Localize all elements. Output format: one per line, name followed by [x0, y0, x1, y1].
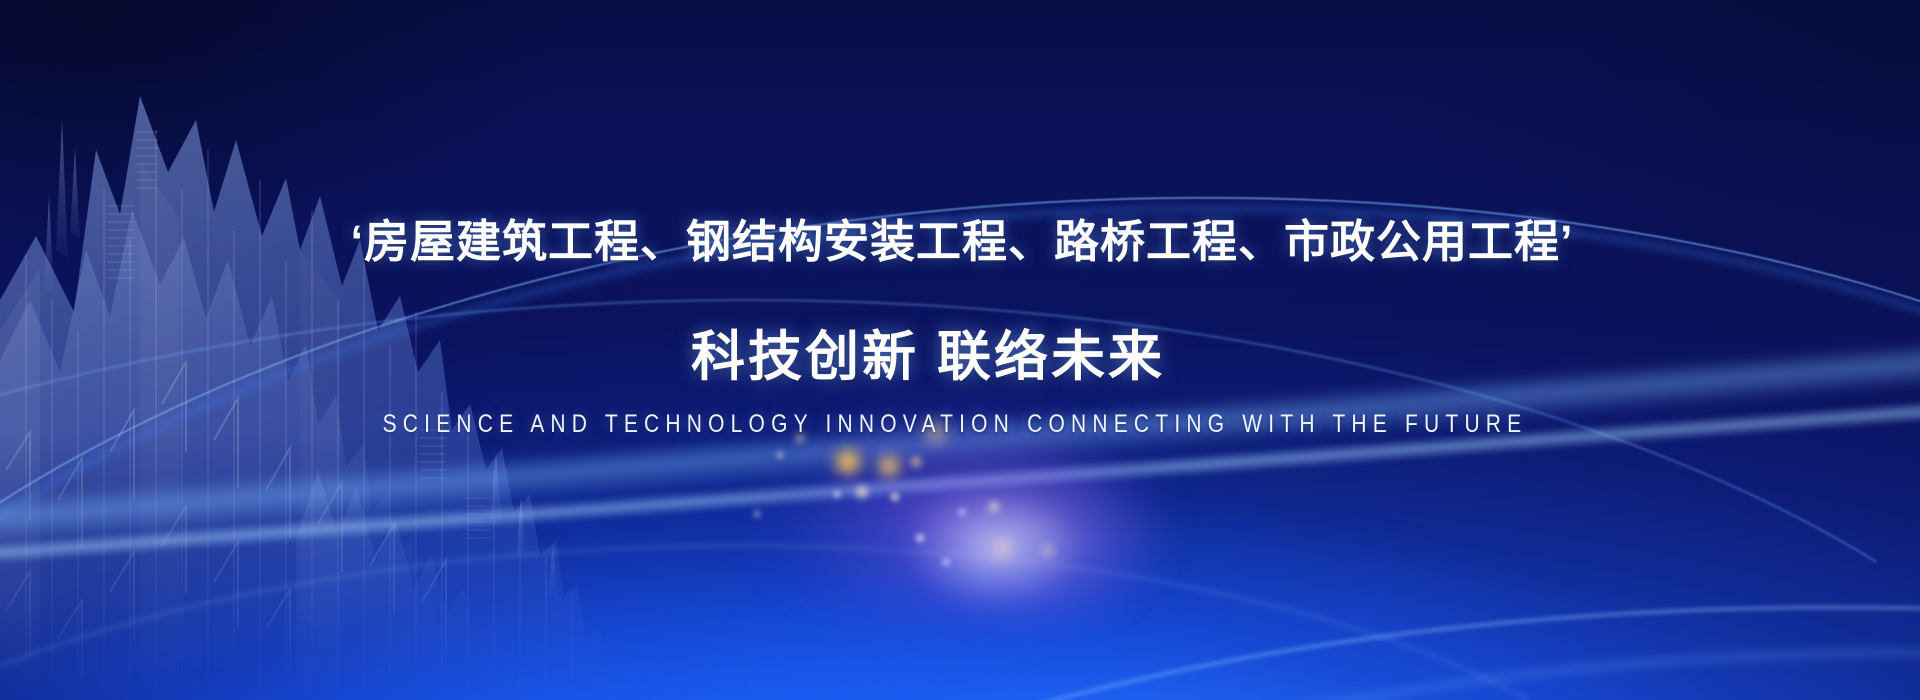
bokeh-dot — [833, 490, 841, 498]
bokeh-dot — [915, 533, 925, 543]
bokeh-dot — [942, 558, 950, 566]
bokeh-dot — [958, 508, 966, 516]
bokeh-dot — [795, 433, 805, 443]
bokeh-dot — [776, 451, 784, 459]
bokeh-dot — [876, 453, 902, 479]
bokeh-dot — [910, 456, 922, 468]
bokeh-dot — [890, 492, 900, 502]
bokeh-dot — [988, 501, 1000, 513]
bokeh-dot — [855, 485, 869, 499]
bokeh-dot — [925, 421, 947, 443]
banner-hero: ‘房屋建筑工程、钢结构安装工程、路桥工程、市政公用工程’ 科技创新 联络未来 S… — [0, 0, 1920, 700]
bokeh-dot — [1042, 545, 1054, 557]
bokeh-dot — [753, 510, 761, 518]
bokeh-dot — [994, 539, 1012, 557]
bokeh-dot — [833, 447, 863, 477]
bokeh-light-particles — [0, 0, 1920, 700]
